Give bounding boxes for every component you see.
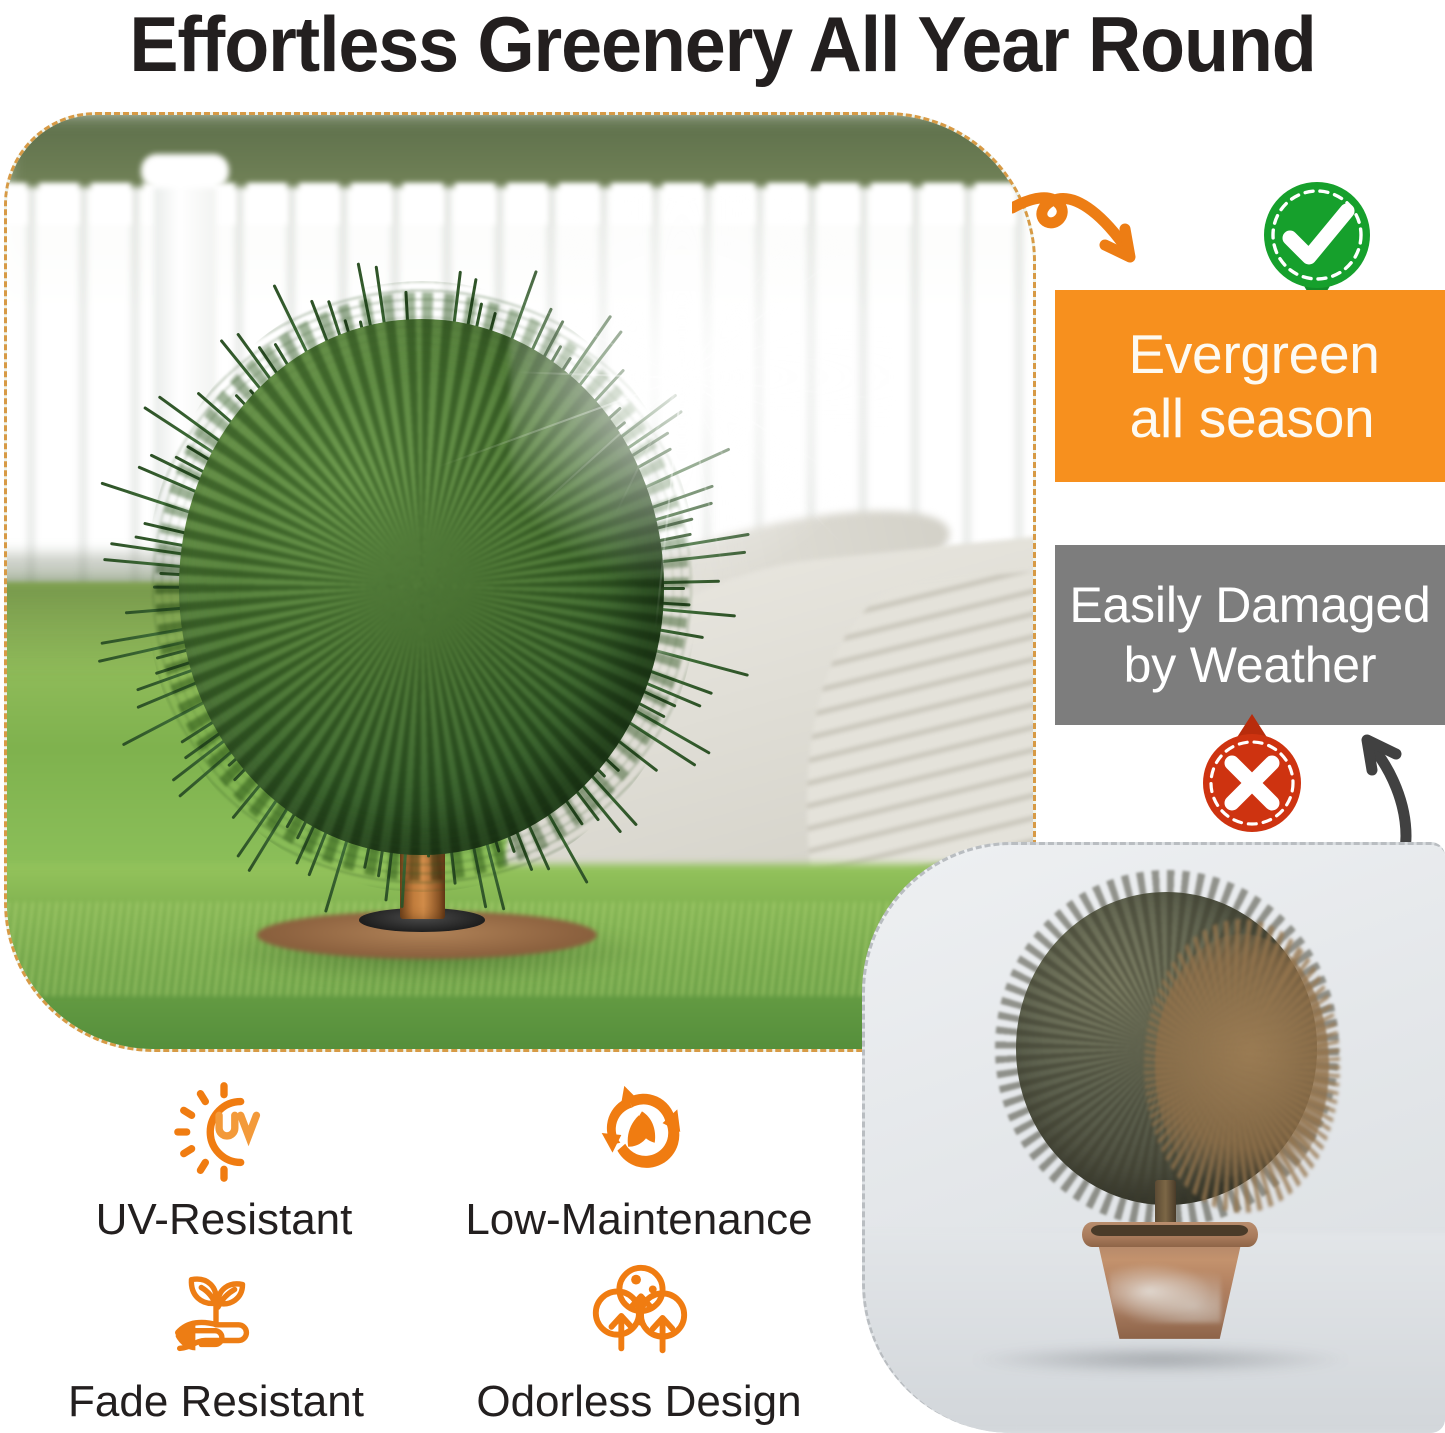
page-title: Effortless Greenery All Year Round [40,0,1406,92]
hero-product-photo [4,112,1036,1052]
feature-label: UV-Resistant [96,1194,353,1246]
topiary-plant [179,319,664,855]
badge-pro-line1: Evergreen [1120,322,1379,386]
pot-soil [1091,1225,1247,1236]
badge-con-line1: Easily Damaged [1069,575,1430,635]
feature-item-uv-resistant: UV-Resistant [18,1078,430,1246]
badge-pro-line2: all season [1126,386,1375,450]
pot-body [1098,1243,1241,1339]
terracotta-pot [1088,1222,1251,1336]
feature-item-low-maintenance: Low-Maintenance [424,1078,854,1246]
feature-label: Low-Maintenance [465,1194,812,1246]
uv-sun-icon [170,1078,278,1186]
badge-easily-damaged-by-weather: Easily Damaged by Weather [1055,545,1445,725]
feature-item-odorless-design: Odorless Design [424,1260,854,1428]
hero-scene [4,112,1036,1052]
feature-label: Fade Resistant [68,1376,364,1428]
feature-item-fade-resistant: Fade Resistant [10,1260,422,1428]
browned-foliage-patch [1155,934,1330,1196]
pot-shadow [969,1345,1352,1374]
badge-con-line2: by Weather [1124,635,1377,695]
hand-sprout-icon [162,1260,270,1368]
cross-pin-icon [1196,714,1308,836]
feature-list: UV-Resistant Low-Maintenance [0,1070,862,1433]
odorless-cloud-arrows-icon [585,1260,693,1368]
badge-evergreen-all-season: Evergreen all season [1055,290,1445,482]
foliage-ball [179,319,664,855]
dead-topiary [1016,892,1318,1315]
recycle-leaf-icon [585,1078,693,1186]
comparison-dead-plant-photo [862,842,1445,1433]
curved-arrow-orange-icon [1012,178,1192,288]
feature-label: Odorless Design [476,1376,801,1428]
